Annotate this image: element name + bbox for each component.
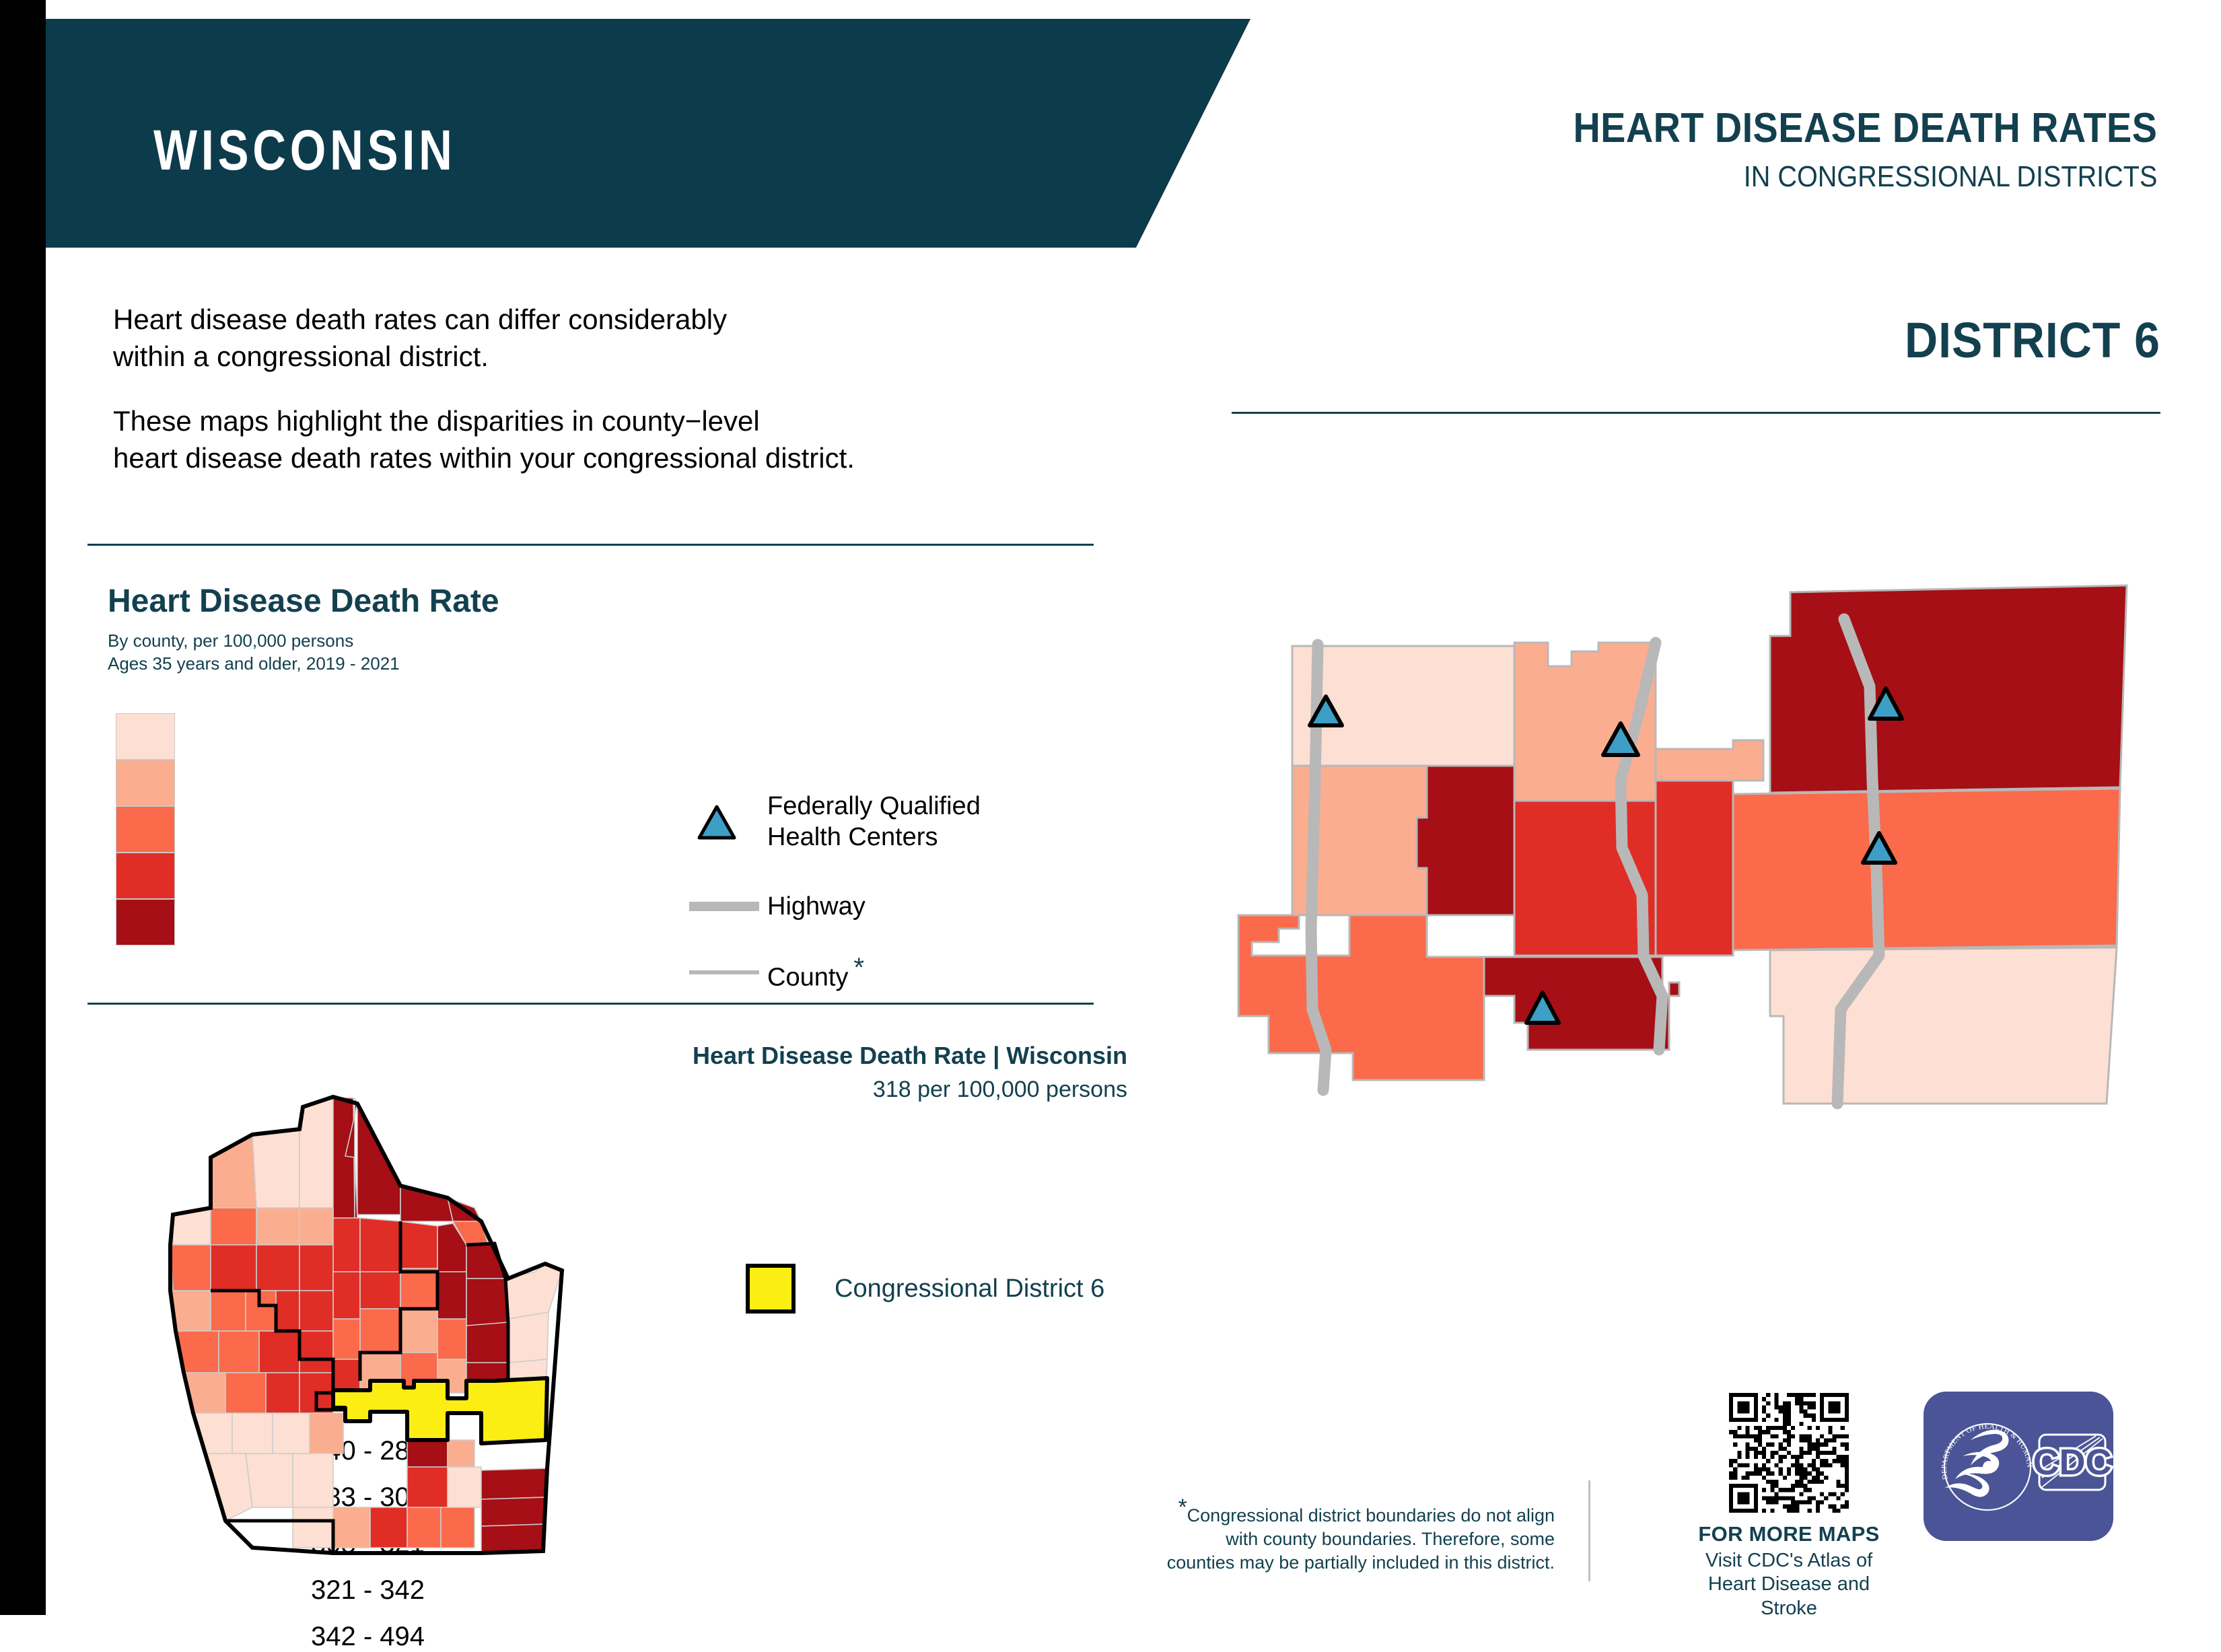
county-shape [219,1331,259,1373]
county-shape [299,1291,333,1331]
county-shape [333,1359,360,1393]
qr-code-icon[interactable] [1729,1393,1849,1513]
county-shape [508,1312,549,1363]
county-line-wrap [666,970,767,974]
county-shape [437,1272,466,1319]
legend-swatch-row: 342 - 494 [116,899,175,945]
intro-copy: Heart disease death rates can differ con… [113,301,1102,476]
highway-line-icon [689,902,759,911]
intro-p1-line2: within a congressional district. [113,338,1102,375]
county-shape [1656,740,1763,781]
county-shape [246,1453,293,1507]
county-shape [441,1507,474,1548]
legend-swatch-2 [116,806,175,853]
county-shape [232,1413,273,1453]
county-shape [333,1218,360,1272]
county-shape [333,1272,360,1319]
county-shape [448,1467,481,1507]
county-shape [211,1208,256,1245]
county-shape [466,1322,508,1363]
legend-swatch-label-4: 342 - 494 [311,1622,425,1652]
legend-subtitle: By county, per 100,000 persons Ages 35 y… [108,629,400,676]
county-label-text: County [767,964,848,992]
county-line-icon [689,970,759,974]
county-shape [211,1291,246,1331]
footnote: *Congressional district boundaries do no… [1110,1493,1555,1575]
county-shape [170,1245,211,1291]
legend-top-divider [87,544,1094,546]
fqhc-legend-text: Federally Qualified Health Centers [767,791,981,853]
county-shape [273,1413,310,1453]
hhs-cdc-logo: DEPARTMENT OF HEALTH & HUMAN SERVICES·US… [1924,1392,2113,1541]
county-shape [299,1208,333,1245]
footnote-line1: Congressional district boundaries do not… [1187,1505,1555,1525]
legend-swatch-0 [116,713,175,760]
county-shape [256,1208,299,1245]
footnote-line3: counties may be partially included in th… [1167,1552,1555,1573]
intro-p2-line2: heart disease death rates within your co… [113,440,1102,477]
county-shape [211,1245,256,1291]
state-map-caption-value: 318 per 100,000 persons [522,1077,1127,1103]
county-shape [481,1497,546,1526]
district-heading: DISTRICT 6 [1905,312,2160,369]
county-shape [437,1319,466,1359]
county-shape [225,1373,266,1413]
county-shape [266,1373,299,1413]
state-map-caption-title: Heart Disease Death Rate | Wisconsin [522,1042,1127,1070]
congressional-district-key-label: Congressional District 6 [835,1274,1104,1303]
map-symbol-legend: Federally Qualified Health Centers Highw… [666,791,981,1000]
county-shape [448,1440,474,1467]
highway-legend-row: Highway [666,891,981,922]
county-shape [205,1453,252,1521]
county-shape [481,1524,544,1553]
county-shape [400,1309,437,1353]
legend-swatch-row: 308 - 321 [116,806,175,853]
legend-swatch-1 [116,760,175,806]
county-shape [293,1453,333,1507]
legend-swatch-row: 283 - 308 [116,760,175,806]
county-shape [252,1129,299,1208]
county-shape [333,1319,360,1359]
county-shape [360,1272,400,1309]
county-shape [333,1507,370,1548]
legend-subtitle-line2: Ages 35 years and older, 2019 - 2021 [108,652,400,675]
more-maps-title: FOR MORE MAPS [1695,1522,1883,1546]
legend-subtitle-line1: By county, per 100,000 persons [108,629,400,652]
footnote-line2: with county boundaries. Therefore, some [1226,1529,1555,1549]
county-footnote-asterisk: * [853,953,864,982]
county-shape [407,1507,441,1548]
county-shape [481,1468,547,1499]
fqhc-legend-row: Federally Qualified Health Centers [666,791,981,853]
intro-p1-line1: Heart disease death rates can differ con… [113,301,1102,338]
svg-text:DEPARTMENT OF HEALTH & HUMAN S: DEPARTMENT OF HEALTH & HUMAN SERVICES·US… [1921,1386,2033,1480]
highway-legend-label: Highway [767,891,866,922]
more-maps-line2: Heart Disease and Stroke [1695,1573,1883,1620]
county-shape [1656,781,1733,956]
county-shape [1770,947,2117,1104]
fqhc-triangle-icon [697,805,736,838]
page-subtitle: IN CONGRESSIONAL DISTRICTS [1573,160,2157,194]
intro-p2-line1: These maps highlight the disparities in … [113,403,1102,440]
county-shape [299,1097,333,1208]
county-shape [1238,915,1484,1080]
county-legend-row: County* [666,951,981,993]
county-shape [299,1245,333,1291]
legend-swatch-row: 321 - 342 [116,853,175,899]
more-maps-line1: Visit CDC's Atlas of [1695,1549,1883,1573]
state-map-caption: Heart Disease Death Rate | Wisconsin 318… [522,1042,1127,1103]
legend-title: Heart Disease Death Rate [108,583,499,620]
county-legend-label: County* [767,951,864,993]
county-shape [299,1331,333,1373]
county-shape [276,1291,299,1331]
more-maps-subtitle: Visit CDC's Atlas of Heart Disease and S… [1695,1549,1883,1620]
header-title-group: HEART DISEASE DEATH RATES IN CONGRESSION… [1508,104,2157,194]
county-shape [256,1245,299,1291]
legend-swatch-3 [116,853,175,899]
county-shape [1417,766,1514,915]
page-title: HEART DISEASE DEATH RATES [1573,104,2157,152]
county-shape [400,1221,437,1268]
county-shape [407,1440,448,1467]
legend-swatch-row: 240 - 283 [116,713,175,760]
county-shape [466,1279,508,1326]
county-shape [505,1264,562,1319]
infographic-page: WISCONSIN HEART DISEASE DEATH RATES IN C… [0,0,2221,1615]
legend-swatch-label-3: 321 - 342 [311,1575,425,1606]
fqhc-label-line1: Federally Qualified [767,791,981,822]
highway-line-wrap [666,902,767,911]
congressional-district-swatch [746,1264,796,1314]
fqhc-label-line2: Health Centers [767,822,981,853]
svg-text:CDC: CDC [2033,1442,2112,1482]
county-shape [293,1507,333,1548]
congressional-district-key: Congressional District 6 [746,1264,1104,1314]
wisconsin-state-map [131,1077,589,1561]
fqhc-triangle-wrap [666,805,767,838]
county-shape [360,1309,400,1353]
more-maps-block[interactable]: FOR MORE MAPS Visit CDC's Atlas of Heart… [1695,1393,1883,1620]
legend-bottom-divider [87,1003,1094,1005]
county-shape [400,1268,437,1309]
county-shape [370,1507,407,1548]
state-name: WISCONSIN [153,118,456,183]
district-detail-map [1232,579,2167,1110]
county-shape [259,1331,299,1373]
footnote-asterisk: * [1178,1495,1187,1520]
footer-divider [1588,1480,1590,1581]
county-shape [1770,585,2127,793]
left-black-rail [0,0,46,1615]
district-divider [1232,412,2160,414]
legend-swatch-4 [116,899,175,945]
county-shape [1733,789,2120,950]
legend-swatch-list: 240 - 283 283 - 308 308 - 321 321 - 342 … [116,713,175,945]
county-shape [360,1218,400,1272]
county-shape [407,1467,448,1507]
county-shape [310,1413,343,1453]
